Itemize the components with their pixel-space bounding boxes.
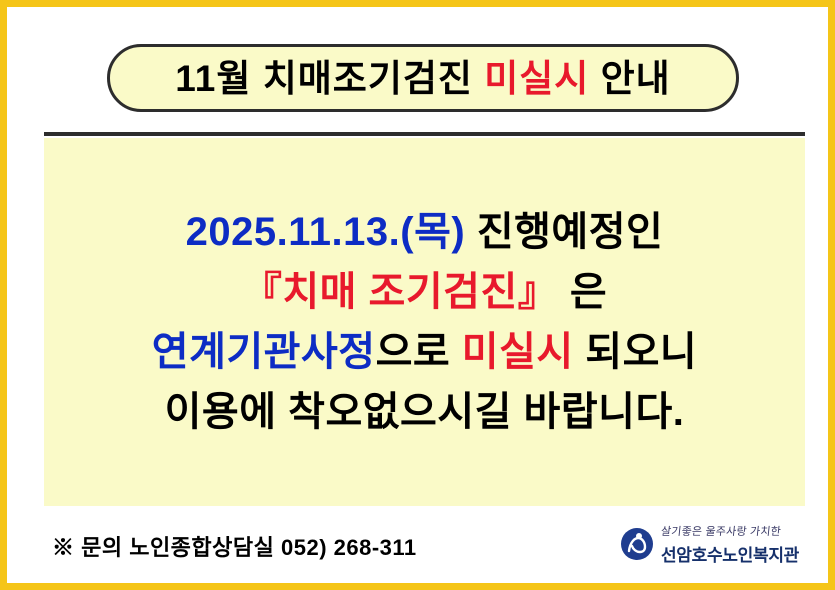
- title-part1: 11월 치매조기검진: [175, 58, 484, 99]
- organization-logo: 살기좋은 울주사랑 가치한 선암호수노인복지관: [589, 518, 799, 570]
- body-line-2-rest: 은: [558, 270, 607, 314]
- body-box: 2025.11.13.(목) 진행예정인 『치매 조기검진』 은 연계기관사정으…: [44, 138, 805, 506]
- body-line-3-status: 미실시: [462, 330, 574, 374]
- page-title: 11월 치매조기검진 미실시 안내: [175, 60, 670, 97]
- body-line-2-subject: 『치매 조기검진』: [242, 270, 558, 314]
- body-line-3: 연계기관사정으로 미실시 되오니: [152, 329, 697, 375]
- body-line-1-date: 2025.11.13.(목): [186, 210, 466, 254]
- title-highlight: 미실시: [484, 58, 589, 99]
- body-line-3-rest: 되오니: [574, 330, 698, 374]
- body-line-1: 2025.11.13.(목) 진행예정인: [186, 209, 664, 255]
- body-line-4: 이용에 착오없으시길 바랍니다.: [165, 389, 685, 435]
- title-part2: 안내: [589, 58, 670, 99]
- body-line-1-rest: 진행예정인: [465, 210, 663, 254]
- poster-inner: 11월 치매조기검진 미실시 안내 2025.11.13.(목) 진행예정인 『…: [14, 14, 821, 576]
- logo-emblem-icon: [619, 526, 655, 562]
- logo-tagline: 살기좋은 울주사랑 가치한: [660, 523, 782, 539]
- body-line-3-mid: 으로: [376, 330, 462, 374]
- divider-under-title: [44, 132, 805, 136]
- body-line-3-reason: 연계기관사정: [152, 330, 376, 374]
- title-banner: 11월 치매조기검진 미실시 안내: [107, 44, 739, 112]
- logo-text-block: 살기좋은 울주사랑 가치한 선암호수노인복지관: [661, 523, 799, 566]
- footer: ※ 문의 노인종합상담실 052) 268-311 살기좋은 울주사랑 가치한 …: [44, 512, 805, 584]
- body-lines: 2025.11.13.(목) 진행예정인 『치매 조기검진』 은 연계기관사정으…: [44, 138, 805, 506]
- logo-name: 선암호수노인복지관: [661, 541, 799, 566]
- contact-note: ※ 문의 노인종합상담실 052) 268-311: [52, 530, 417, 562]
- body-line-2: 『치매 조기검진』 은: [242, 269, 607, 315]
- poster-notice: 11월 치매조기검진 미실시 안내 2025.11.13.(목) 진행예정인 『…: [0, 0, 835, 590]
